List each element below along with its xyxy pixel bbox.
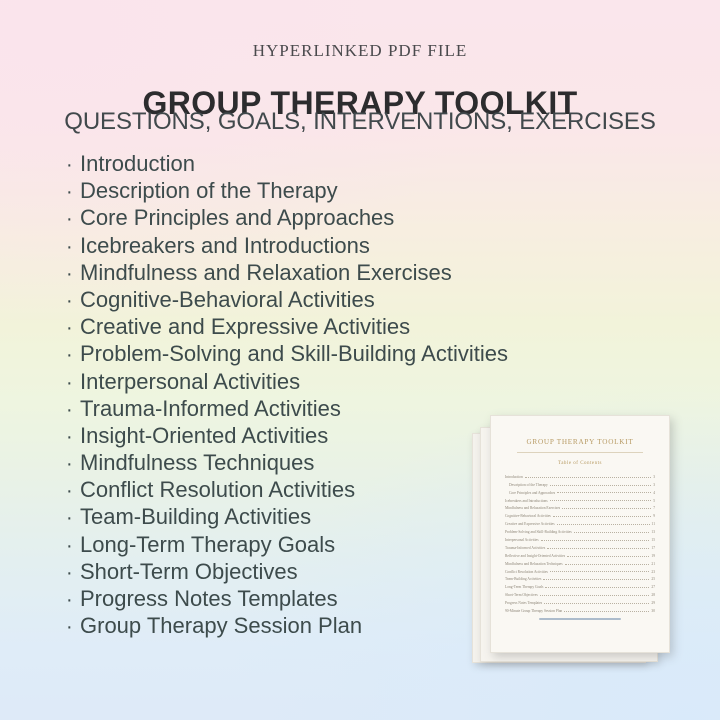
- list-item-label: Creative and Expressive Activities: [80, 314, 410, 339]
- dot-leader: [574, 532, 650, 533]
- list-item-label: Icebreakers and Introductions: [80, 233, 370, 258]
- list-item-label: Mindfulness Techniques: [80, 450, 314, 475]
- list-item: ·Icebreakers and Introductions: [66, 232, 508, 259]
- list-item: ·Conflict Resolution Activities: [66, 476, 508, 503]
- document-toc-row: Problem-Solving and Skill-Building Activ…: [505, 526, 655, 534]
- document-footer-bar: [539, 618, 621, 621]
- eyebrow-label: HYPERLINKED PDF FILE: [0, 41, 720, 61]
- document-toc-label: Introduction: [505, 475, 525, 479]
- list-item: ·Long-Term Therapy Goals: [66, 531, 508, 558]
- bullet-icon: ·: [66, 560, 80, 587]
- bullet-icon: ·: [66, 179, 80, 206]
- document-toc-label: Mindfulness and Relaxation Exercises: [505, 506, 562, 510]
- document-toc-label: Core Principles and Approaches: [505, 491, 557, 495]
- document-toc-row: Description of the Therapy3: [505, 479, 655, 487]
- document-toc-label: Team-Building Activities: [505, 577, 543, 581]
- document-toc-label: Reflective and Insight-Oriented Activiti…: [505, 554, 567, 558]
- document-toc-page-number: 11: [650, 522, 655, 526]
- list-item-label: Interpersonal Activities: [80, 369, 300, 394]
- document-toc-row: Short-Term Objectives28: [505, 589, 655, 597]
- list-item-label: Core Principles and Approaches: [80, 205, 394, 230]
- document-toc-label: 90-Minute Group Therapy Session Plan: [505, 609, 564, 613]
- paper-sheet-front: GROUP THERAPY TOOLKIT Table of Contents …: [490, 415, 670, 653]
- page-subtitle: QUESTIONS, GOALS, INTERVENTIONS, EXERCIS…: [0, 108, 720, 136]
- document-toc-page-number: 15: [649, 538, 655, 542]
- document-toc-label: Progress Notes Templates: [505, 601, 544, 605]
- document-toc-row: Mindfulness and Relaxation Techniques21: [505, 558, 655, 566]
- document-toc-label: Interpersonal Activities: [505, 538, 541, 542]
- list-item: ·Mindfulness and Relaxation Exercises: [66, 259, 508, 286]
- dot-leader: [550, 571, 649, 572]
- list-item: ·Description of the Therapy: [66, 177, 508, 204]
- document-toc-row: Core Principles and Approaches4: [505, 487, 655, 495]
- dot-leader: [543, 579, 649, 580]
- bullet-icon: ·: [66, 397, 80, 424]
- document-toc-page-number: 4: [651, 491, 655, 495]
- document-toc-label: Description of the Therapy: [505, 483, 550, 487]
- document-toc-page-number: 28: [649, 593, 655, 597]
- document-toc-row: 90-Minute Group Therapy Session Plan30: [505, 605, 655, 613]
- list-item: ·Insight-Oriented Activities: [66, 422, 508, 449]
- list-item-label: Conflict Resolution Activities: [80, 477, 355, 502]
- document-toc-row: Long-Term Therapy Goals27: [505, 581, 655, 589]
- document-toc-row: Mindfulness and Relaxation Exercises7: [505, 503, 655, 511]
- dot-leader: [567, 556, 649, 557]
- document-toc-page-number: 3: [651, 483, 655, 487]
- document-toc-page-number: 27: [649, 585, 655, 589]
- list-item: ·Mindfulness Techniques: [66, 449, 508, 476]
- bullet-icon: ·: [66, 505, 80, 532]
- bullet-icon: ·: [66, 451, 80, 478]
- list-item: ·Team-Building Activities: [66, 503, 508, 530]
- document-toc-row: Progress Notes Templates29: [505, 597, 655, 605]
- dot-leader: [547, 548, 649, 549]
- list-item: ·Interpersonal Activities: [66, 368, 508, 395]
- document-toc-row: Conflict Resolution Activities23: [505, 566, 655, 574]
- dot-leader: [550, 485, 651, 486]
- dot-leader: [544, 603, 649, 604]
- document-toc-row: Cognitive-Behavioral Activities9: [505, 510, 655, 518]
- list-item: ·Progress Notes Templates: [66, 585, 508, 612]
- dot-leader: [562, 508, 651, 509]
- list-item: ·Cognitive-Behavioral Activities: [66, 286, 508, 313]
- list-item-label: Short-Term Objectives: [80, 559, 298, 584]
- poster-canvas: HYPERLINKED PDF FILE GROUP THERAPY TOOLK…: [0, 0, 720, 720]
- document-toc-label: Problem-Solving and Skill-Building Activ…: [505, 530, 574, 534]
- document-toc-label: Mindfulness and Relaxation Techniques: [505, 562, 565, 566]
- list-item: ·Core Principles and Approaches: [66, 204, 508, 231]
- document-toc-page-number: 19: [649, 554, 655, 558]
- dot-leader: [564, 611, 649, 612]
- bullet-icon: ·: [66, 533, 80, 560]
- document-toc-label: Conflict Resolution Activities: [505, 570, 550, 574]
- document-toc-page-number: 9: [651, 514, 655, 518]
- dot-leader: [557, 492, 651, 493]
- list-item-label: Team-Building Activities: [80, 504, 311, 529]
- document-title-rule: [517, 452, 643, 453]
- document-toc-entries: Introduction3Description of the Therapy3…: [505, 471, 655, 613]
- list-item: ·Trauma-Informed Activities: [66, 395, 508, 422]
- document-toc-page-number: 30: [649, 609, 655, 613]
- document-toc-label: Short-Term Objectives: [505, 593, 540, 597]
- document-toc-label: Long-Term Therapy Goals: [505, 585, 545, 589]
- list-item-label: Trauma-Informed Activities: [80, 396, 341, 421]
- document-toc-label: Cognitive-Behavioral Activities: [505, 514, 553, 518]
- dot-leader: [545, 587, 649, 588]
- list-item: ·Short-Term Objectives: [66, 558, 508, 585]
- document-toc-page-number: 21: [649, 562, 655, 566]
- document-toc-page-number: 5: [651, 499, 655, 503]
- bullet-icon: ·: [66, 614, 80, 641]
- document-toc-heading: Table of Contents: [491, 461, 669, 466]
- dot-leader: [541, 540, 650, 541]
- bullet-icon: ·: [66, 288, 80, 315]
- bullet-icon: ·: [66, 261, 80, 288]
- list-item: ·Group Therapy Session Plan: [66, 612, 508, 639]
- bullet-icon: ·: [66, 424, 80, 451]
- bullet-icon: ·: [66, 315, 80, 342]
- dot-leader: [540, 595, 650, 596]
- document-toc-row: Trauma-Informed Activities17: [505, 542, 655, 550]
- list-item-label: Problem-Solving and Skill-Building Activ…: [80, 341, 508, 366]
- document-toc-page-number: 17: [649, 546, 655, 550]
- list-item-label: Insight-Oriented Activities: [80, 423, 328, 448]
- bullet-icon: ·: [66, 370, 80, 397]
- dot-leader: [553, 516, 651, 517]
- document-toc-label: Creative and Expressive Activities: [505, 522, 557, 526]
- dot-leader: [550, 500, 651, 501]
- document-toc-page-number: 13: [649, 530, 655, 534]
- list-item-label: Progress Notes Templates: [80, 586, 338, 611]
- bullet-icon: ·: [66, 478, 80, 505]
- document-toc-row: Team-Building Activities25: [505, 574, 655, 582]
- list-item: ·Introduction: [66, 150, 508, 177]
- list-item-label: Cognitive-Behavioral Activities: [80, 287, 375, 312]
- document-stack-mockup: GROUP THERAPY TOOLKIT Table of Contents …: [470, 405, 710, 680]
- document-toc-row: Creative and Expressive Activities11: [505, 518, 655, 526]
- document-title: GROUP THERAPY TOOLKIT: [491, 438, 669, 446]
- document-toc-row: Introduction3: [505, 471, 655, 479]
- list-item-label: Description of the Therapy: [80, 178, 338, 203]
- bullet-icon: ·: [66, 152, 80, 179]
- bullet-icon: ·: [66, 206, 80, 233]
- list-item: ·Problem-Solving and Skill-Building Acti…: [66, 340, 508, 367]
- dot-leader: [565, 564, 650, 565]
- document-toc-row: Reflective and Insight-Oriented Activiti…: [505, 550, 655, 558]
- document-toc-row: Icebreakers and Introductions5: [505, 495, 655, 503]
- contents-list: ·Introduction·Description of the Therapy…: [66, 150, 508, 639]
- list-item-label: Mindfulness and Relaxation Exercises: [80, 260, 452, 285]
- bullet-icon: ·: [66, 587, 80, 614]
- document-toc-page-number: 3: [651, 475, 655, 479]
- document-toc-page-number: 29: [649, 601, 655, 605]
- dot-leader: [557, 524, 650, 525]
- list-item-label: Group Therapy Session Plan: [80, 613, 362, 638]
- list-item-label: Introduction: [80, 151, 195, 176]
- document-toc-page-number: 23: [649, 570, 655, 574]
- document-toc-page-number: 25: [649, 577, 655, 581]
- document-toc-label: Trauma-Informed Activities: [505, 546, 547, 550]
- list-item: ·Creative and Expressive Activities: [66, 313, 508, 340]
- document-toc-label: Icebreakers and Introductions: [505, 499, 550, 503]
- document-toc-page-number: 7: [651, 506, 655, 510]
- dot-leader: [525, 477, 651, 478]
- bullet-icon: ·: [66, 342, 80, 369]
- document-toc-row: Interpersonal Activities15: [505, 534, 655, 542]
- bullet-icon: ·: [66, 234, 80, 261]
- list-item-label: Long-Term Therapy Goals: [80, 532, 335, 557]
